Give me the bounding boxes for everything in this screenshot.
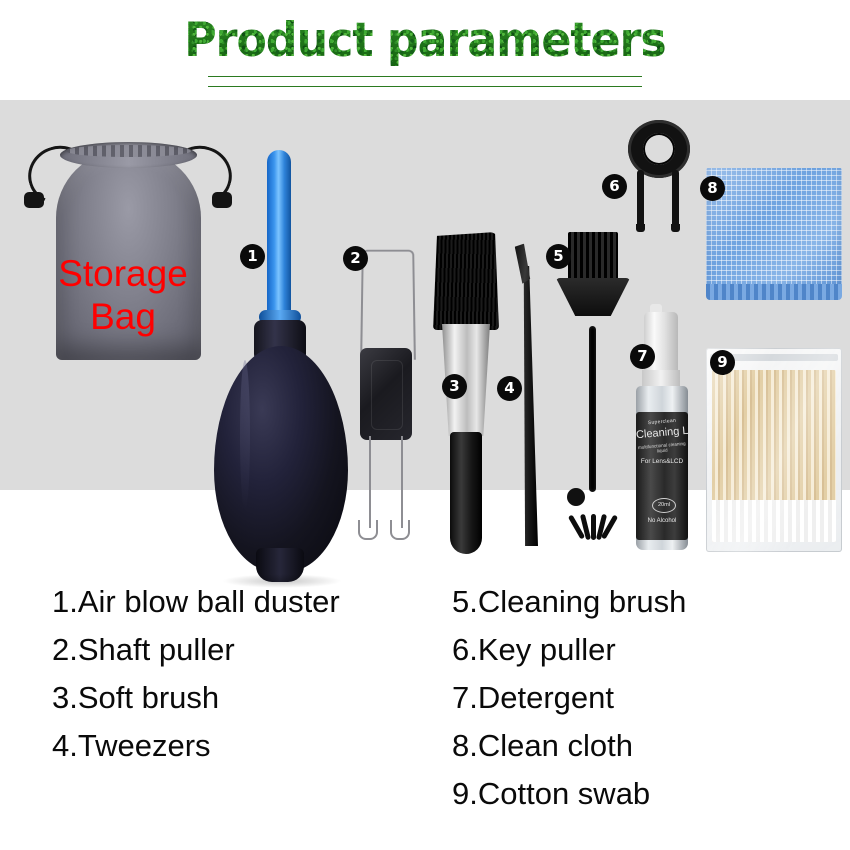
cotton-swab-bag-gloss: [706, 348, 842, 552]
product-parameters-infographic: Product parameters Storage Bag 1 2: [0, 0, 850, 850]
shaft-puller-leg-right: [401, 436, 403, 528]
tweezers-angled-tip: [511, 243, 541, 285]
storage-bag-label-line2: Bag: [8, 295, 238, 338]
badge-6: 6: [602, 174, 627, 199]
air-blow-ball-duster: [212, 150, 352, 560]
clean-cloth: [706, 168, 842, 304]
cleaning-brush-claw: [574, 494, 612, 540]
legend-column-right: 5.Cleaning brush 6.Key puller 7.Detergen…: [452, 578, 686, 818]
soft-brush-handle: [450, 432, 482, 554]
legend-item-3: 3.Soft brush: [52, 674, 340, 722]
legend-item-6: 6.Key puller: [452, 626, 686, 674]
badge-9: 9: [710, 350, 735, 375]
legend-item-5: 5.Cleaning brush: [452, 578, 686, 626]
badge-7: 7: [630, 344, 655, 369]
key-puller-foot-right: [671, 224, 680, 232]
bag-gathered-top: [60, 142, 197, 168]
cleaning-brush-head: [556, 278, 630, 316]
key-puller-prong-right: [672, 170, 679, 232]
bottle-note: No Alcohol: [636, 518, 688, 524]
storage-bag-label: Storage Bag: [8, 252, 238, 338]
legend: 1.Air blow ball duster 2.Shaft puller 3.…: [0, 578, 850, 850]
bottle-tagline: multifunctional cleaning liquid: [636, 441, 688, 455]
blower-bulb: [214, 346, 348, 572]
legend-item-8: 8.Clean cloth: [452, 722, 686, 770]
badge-4: 4: [497, 376, 522, 401]
tweezers-body: [504, 266, 538, 546]
legend-item-1: 1.Air blow ball duster: [52, 578, 340, 626]
badge-1: 1: [240, 244, 265, 269]
badge-3: 3: [442, 374, 467, 399]
badge-8: 8: [700, 176, 725, 201]
clean-cloth-hem: [706, 284, 842, 300]
soft-brush: [430, 232, 502, 554]
bottle-volume: 20ml: [652, 498, 676, 513]
shaft-puller-hook-left: [358, 520, 378, 540]
legend-item-2: 2.Shaft puller: [52, 626, 340, 674]
key-puller-foot-left: [636, 224, 645, 232]
legend-item-4: 4.Tweezers: [52, 722, 340, 770]
shaft-puller-leg-left: [369, 436, 371, 528]
title-divider-bottom: [208, 86, 642, 87]
page-title: Product parameters: [26, 12, 825, 70]
bottle-usage: For Lens&LCD: [636, 458, 688, 465]
title-area: Product parameters: [0, 0, 850, 100]
key-puller-prong-left: [637, 170, 644, 232]
shaft-puller-hook-right: [390, 520, 410, 540]
legend-column-left: 1.Air blow ball duster 2.Shaft puller 3.…: [52, 578, 340, 770]
shaft-puller-grip: [360, 348, 412, 440]
key-puller-ring: [628, 120, 690, 178]
badge-2: 2: [343, 246, 368, 271]
cleaning-brush-bristles: [568, 232, 618, 282]
cleaning-brush: [556, 232, 632, 552]
shaft-puller-wire-loop: [360, 250, 416, 360]
cleaning-brush-groove: [589, 326, 596, 492]
clean-cloth-surface: [706, 168, 842, 296]
title-divider-top: [208, 76, 642, 77]
storage-bag-label-line1: Storage: [8, 252, 238, 295]
legend-item-7: 7.Detergent: [452, 674, 686, 722]
blower-nozzle: [267, 150, 291, 322]
shaft-puller: [355, 248, 417, 548]
bottle-label: Superclean Cleaning Liquid multifunction…: [636, 412, 688, 540]
badge-5: 5: [546, 244, 571, 269]
cotton-swab-bag: [706, 348, 842, 552]
legend-item-9: 9.Cotton swab: [452, 770, 686, 818]
bag-cord-toggle-left: [24, 192, 44, 208]
soft-brush-bristles: [433, 232, 499, 330]
bottle-product-name: Cleaning Liquid: [636, 425, 688, 441]
cotton-swab-pack: [706, 348, 842, 552]
key-puller: [620, 120, 696, 232]
